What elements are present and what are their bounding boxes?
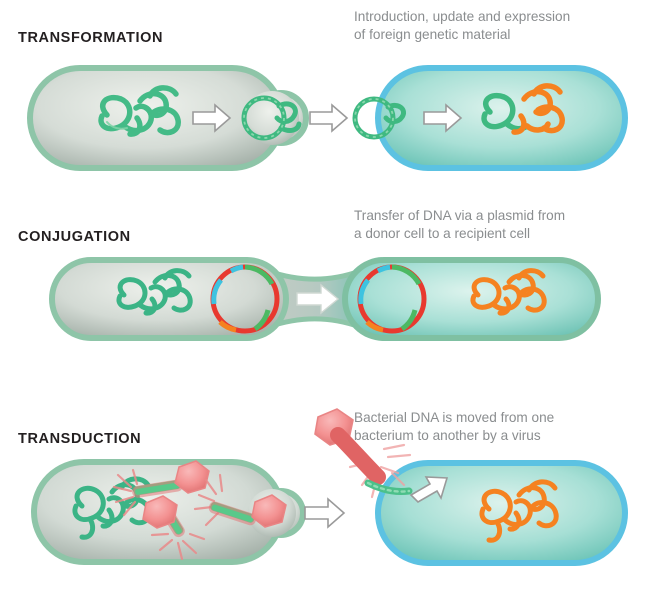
process-arrow-2 — [310, 105, 347, 131]
diagram-canvas: TRANSFORMATION Introduction, update and … — [0, 0, 662, 594]
recipient-cell-membrane-transduction — [378, 463, 625, 563]
transformation-illustration — [0, 0, 662, 196]
recipient-cell-membrane — [378, 68, 625, 168]
row-conjugation: CONJUGATION Transfer of DNA via a plasmi… — [0, 196, 662, 401]
recipient-cell-transformation — [378, 68, 625, 168]
process-arrow-transduction — [305, 499, 344, 527]
donor-cell-transformation — [30, 68, 306, 168]
transduction-illustration — [0, 401, 662, 594]
row-transduction: TRANSDUCTION Bacterial DNA is moved from… — [0, 401, 662, 594]
conjugation-illustration — [0, 196, 662, 401]
row-transformation: TRANSFORMATION Introduction, update and … — [0, 0, 662, 196]
phage-tail-sheath — [338, 435, 378, 477]
